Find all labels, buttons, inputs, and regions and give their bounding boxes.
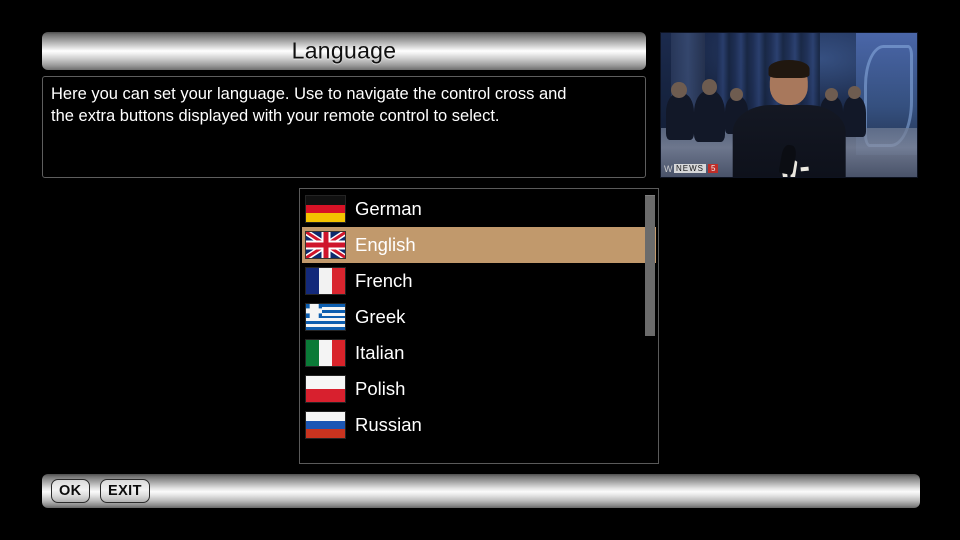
language-list-item[interactable]: French — [302, 263, 656, 299]
info-box: Here you can set your language. Use to n… — [42, 76, 646, 178]
video-crowd-figure — [666, 93, 694, 139]
language-list-item[interactable]: Russian — [302, 407, 656, 443]
de-flag-icon — [306, 196, 345, 222]
pl-flag-icon — [306, 376, 345, 402]
language-list-item[interactable]: English — [302, 227, 656, 263]
news-channel-logo: W NEWS 5 — [664, 162, 718, 175]
scrollbar-thumb[interactable] — [645, 195, 655, 336]
fr-flag-icon — [306, 268, 345, 294]
video-crowd-figure — [694, 91, 725, 143]
video-reporter-pocket-square — [800, 167, 808, 172]
tv-settings-screen: Language Here you can set your language.… — [0, 0, 960, 540]
it-flag-icon — [306, 340, 345, 366]
language-list-item[interactable]: Greek — [302, 299, 656, 335]
ru-flag-icon — [306, 412, 345, 438]
language-list-item-label: Greek — [355, 306, 405, 328]
ok-button[interactable]: OK — [51, 479, 90, 503]
video-reporter-hair — [769, 60, 810, 77]
video-crowd-head — [730, 88, 743, 101]
live-tv-preview[interactable]: W NEWS 5 — [660, 32, 918, 178]
logo-text-part2: NEWS — [674, 164, 706, 173]
language-list-panel: GermanEnglishFrenchGreekItalianPolishRus… — [299, 188, 659, 464]
exit-button[interactable]: EXIT — [100, 479, 150, 503]
video-crowd-figure — [843, 96, 866, 136]
video-crowd-head — [825, 88, 838, 101]
scrollbar-track[interactable] — [645, 192, 655, 460]
logo-text-part1: W — [664, 164, 672, 174]
page-title: Language — [42, 38, 646, 65]
title-bar: Language — [42, 32, 646, 70]
exit-button-label: EXIT — [108, 483, 142, 499]
language-list: GermanEnglishFrenchGreekItalianPolishRus… — [302, 191, 656, 461]
language-list-item[interactable]: Italian — [302, 335, 656, 371]
video-frame: W NEWS 5 — [661, 33, 917, 177]
language-list-item-label: German — [355, 198, 422, 220]
language-list-item-label: English — [355, 234, 416, 256]
video-crowd-head — [848, 86, 861, 99]
language-list-item[interactable]: German — [302, 191, 656, 227]
language-list-item[interactable]: Polish — [302, 371, 656, 407]
language-list-item-label: Italian — [355, 342, 404, 364]
gr-flag-icon — [306, 304, 345, 330]
logo-text-part3: 5 — [708, 164, 718, 173]
ok-button-label: OK — [59, 483, 82, 499]
info-text: Here you can set your language. Use to n… — [51, 83, 637, 127]
video-crowd-head — [671, 82, 686, 98]
gb-flag-icon — [306, 232, 345, 258]
language-list-item-label: Polish — [355, 378, 405, 400]
bottom-softkey-bar: OK EXIT — [42, 474, 920, 508]
language-list-item-label: French — [355, 270, 413, 292]
language-list-item-label: Russian — [355, 414, 422, 436]
